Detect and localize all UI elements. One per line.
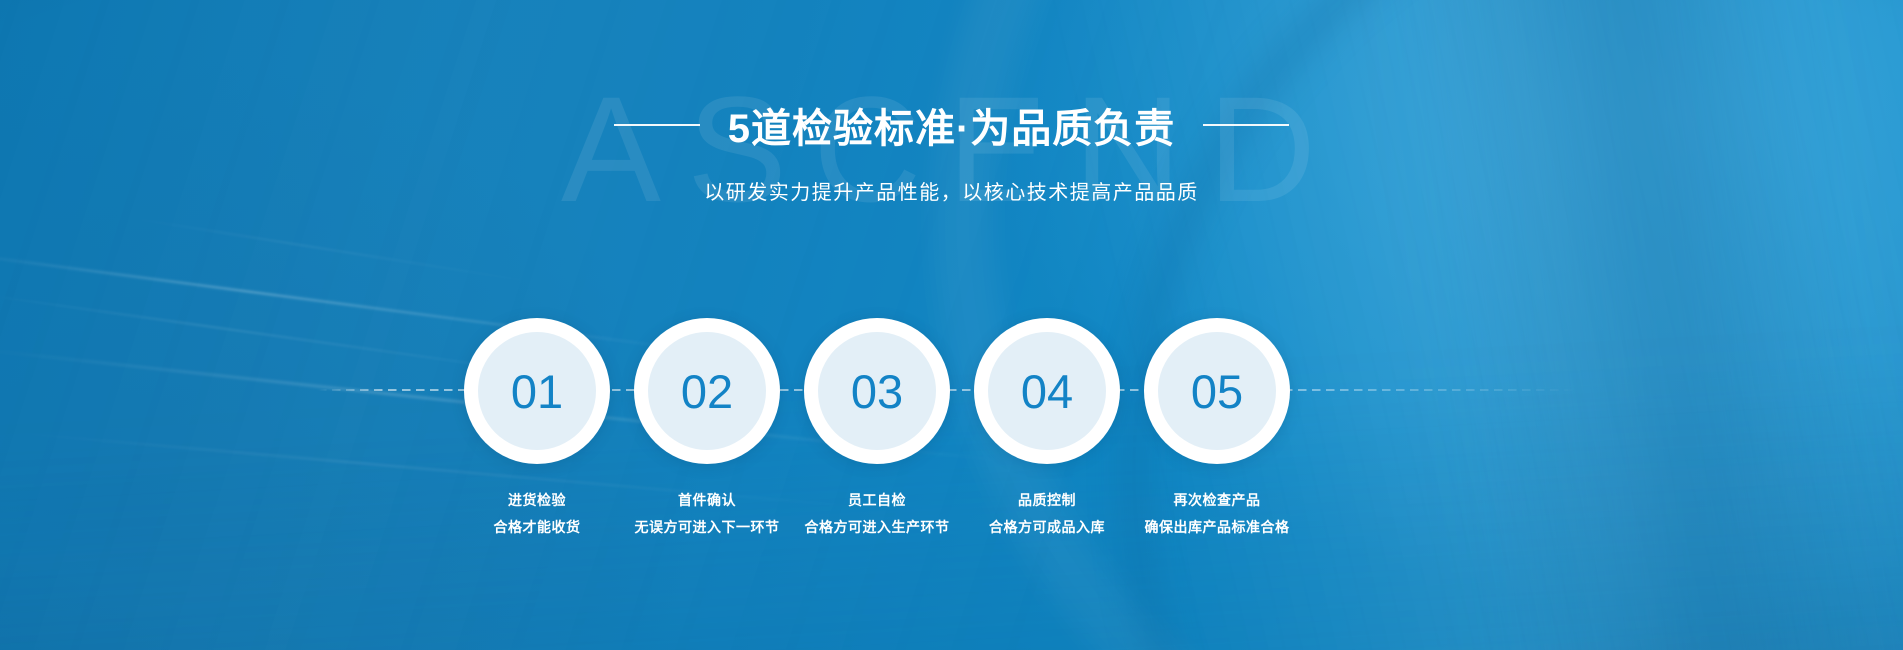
step-label-main-03: 员工自检 bbox=[805, 490, 950, 510]
step-label-sub-03: 合格方可进入生产环节 bbox=[805, 517, 950, 537]
step-bubble-04[interactable]: 04 bbox=[974, 318, 1120, 464]
step-bubble-inner-01: 01 bbox=[478, 332, 596, 450]
step-label-sub-01: 合格才能收货 bbox=[494, 517, 581, 537]
step-item-05[interactable]: 05 再次检查产品 确保出库产品标准合格 bbox=[1132, 318, 1302, 537]
step-item-04[interactable]: 04 品质控制 合格方可成品入库 bbox=[962, 318, 1132, 537]
step-row: 01 进货检验 合格才能收货 02 首件确认 无误方可进入下一环节 bbox=[452, 318, 1302, 537]
step-number-04: 04 bbox=[1021, 368, 1073, 415]
step-number-01: 01 bbox=[511, 368, 563, 415]
banner-header: 5道检验标准·为品质负责 以研发实力提升产品性能，以核心技术提高产品品质 bbox=[0, 96, 1903, 205]
process-steps: 01 进货检验 合格才能收货 02 首件确认 无误方可进入下一环节 bbox=[0, 318, 1903, 568]
step-label-sub-05: 确保出库产品标准合格 bbox=[1145, 517, 1290, 537]
step-labels-02: 首件确认 无误方可进入下一环节 bbox=[635, 490, 780, 537]
step-number-03: 03 bbox=[851, 368, 903, 415]
quality-standards-banner: ASCEND 5道检验标准·为品质负责 以研发实力提升产品性能，以核心技术提高产… bbox=[0, 0, 1903, 650]
step-label-main-01: 进货检验 bbox=[494, 490, 581, 510]
step-label-main-04: 品质控制 bbox=[989, 490, 1105, 510]
page-title: 5道检验标准·为品质负责 bbox=[728, 96, 1176, 154]
step-bubble-inner-04: 04 bbox=[988, 332, 1106, 450]
step-bubble-03[interactable]: 03 bbox=[804, 318, 950, 464]
decorative-rule-right bbox=[1203, 124, 1289, 126]
step-labels-05: 再次检查产品 确保出库产品标准合格 bbox=[1145, 490, 1290, 537]
step-bubble-01[interactable]: 01 bbox=[464, 318, 610, 464]
step-labels-03: 员工自检 合格方可进入生产环节 bbox=[805, 490, 950, 537]
step-labels-01: 进货检验 合格才能收货 bbox=[494, 490, 581, 537]
step-labels-04: 品质控制 合格方可成品入库 bbox=[989, 490, 1105, 537]
step-bubble-inner-02: 02 bbox=[648, 332, 766, 450]
decorative-rule-left bbox=[614, 124, 700, 126]
step-item-01[interactable]: 01 进货检验 合格才能收货 bbox=[452, 318, 622, 537]
step-label-sub-02: 无误方可进入下一环节 bbox=[635, 517, 780, 537]
step-bubble-05[interactable]: 05 bbox=[1144, 318, 1290, 464]
step-label-main-05: 再次检查产品 bbox=[1145, 490, 1290, 510]
title-row: 5道检验标准·为品质负责 bbox=[0, 96, 1903, 154]
page-subtitle: 以研发实力提升产品性能，以核心技术提高产品品质 bbox=[0, 176, 1903, 205]
step-number-02: 02 bbox=[681, 368, 733, 415]
step-label-sub-04: 合格方可成品入库 bbox=[989, 517, 1105, 537]
step-bubble-inner-03: 03 bbox=[818, 332, 936, 450]
step-item-02[interactable]: 02 首件确认 无误方可进入下一环节 bbox=[622, 318, 792, 537]
step-bubble-inner-05: 05 bbox=[1158, 332, 1276, 450]
step-label-main-02: 首件确认 bbox=[635, 490, 780, 510]
step-item-03[interactable]: 03 员工自检 合格方可进入生产环节 bbox=[792, 318, 962, 537]
step-bubble-02[interactable]: 02 bbox=[634, 318, 780, 464]
step-number-05: 05 bbox=[1191, 368, 1243, 415]
